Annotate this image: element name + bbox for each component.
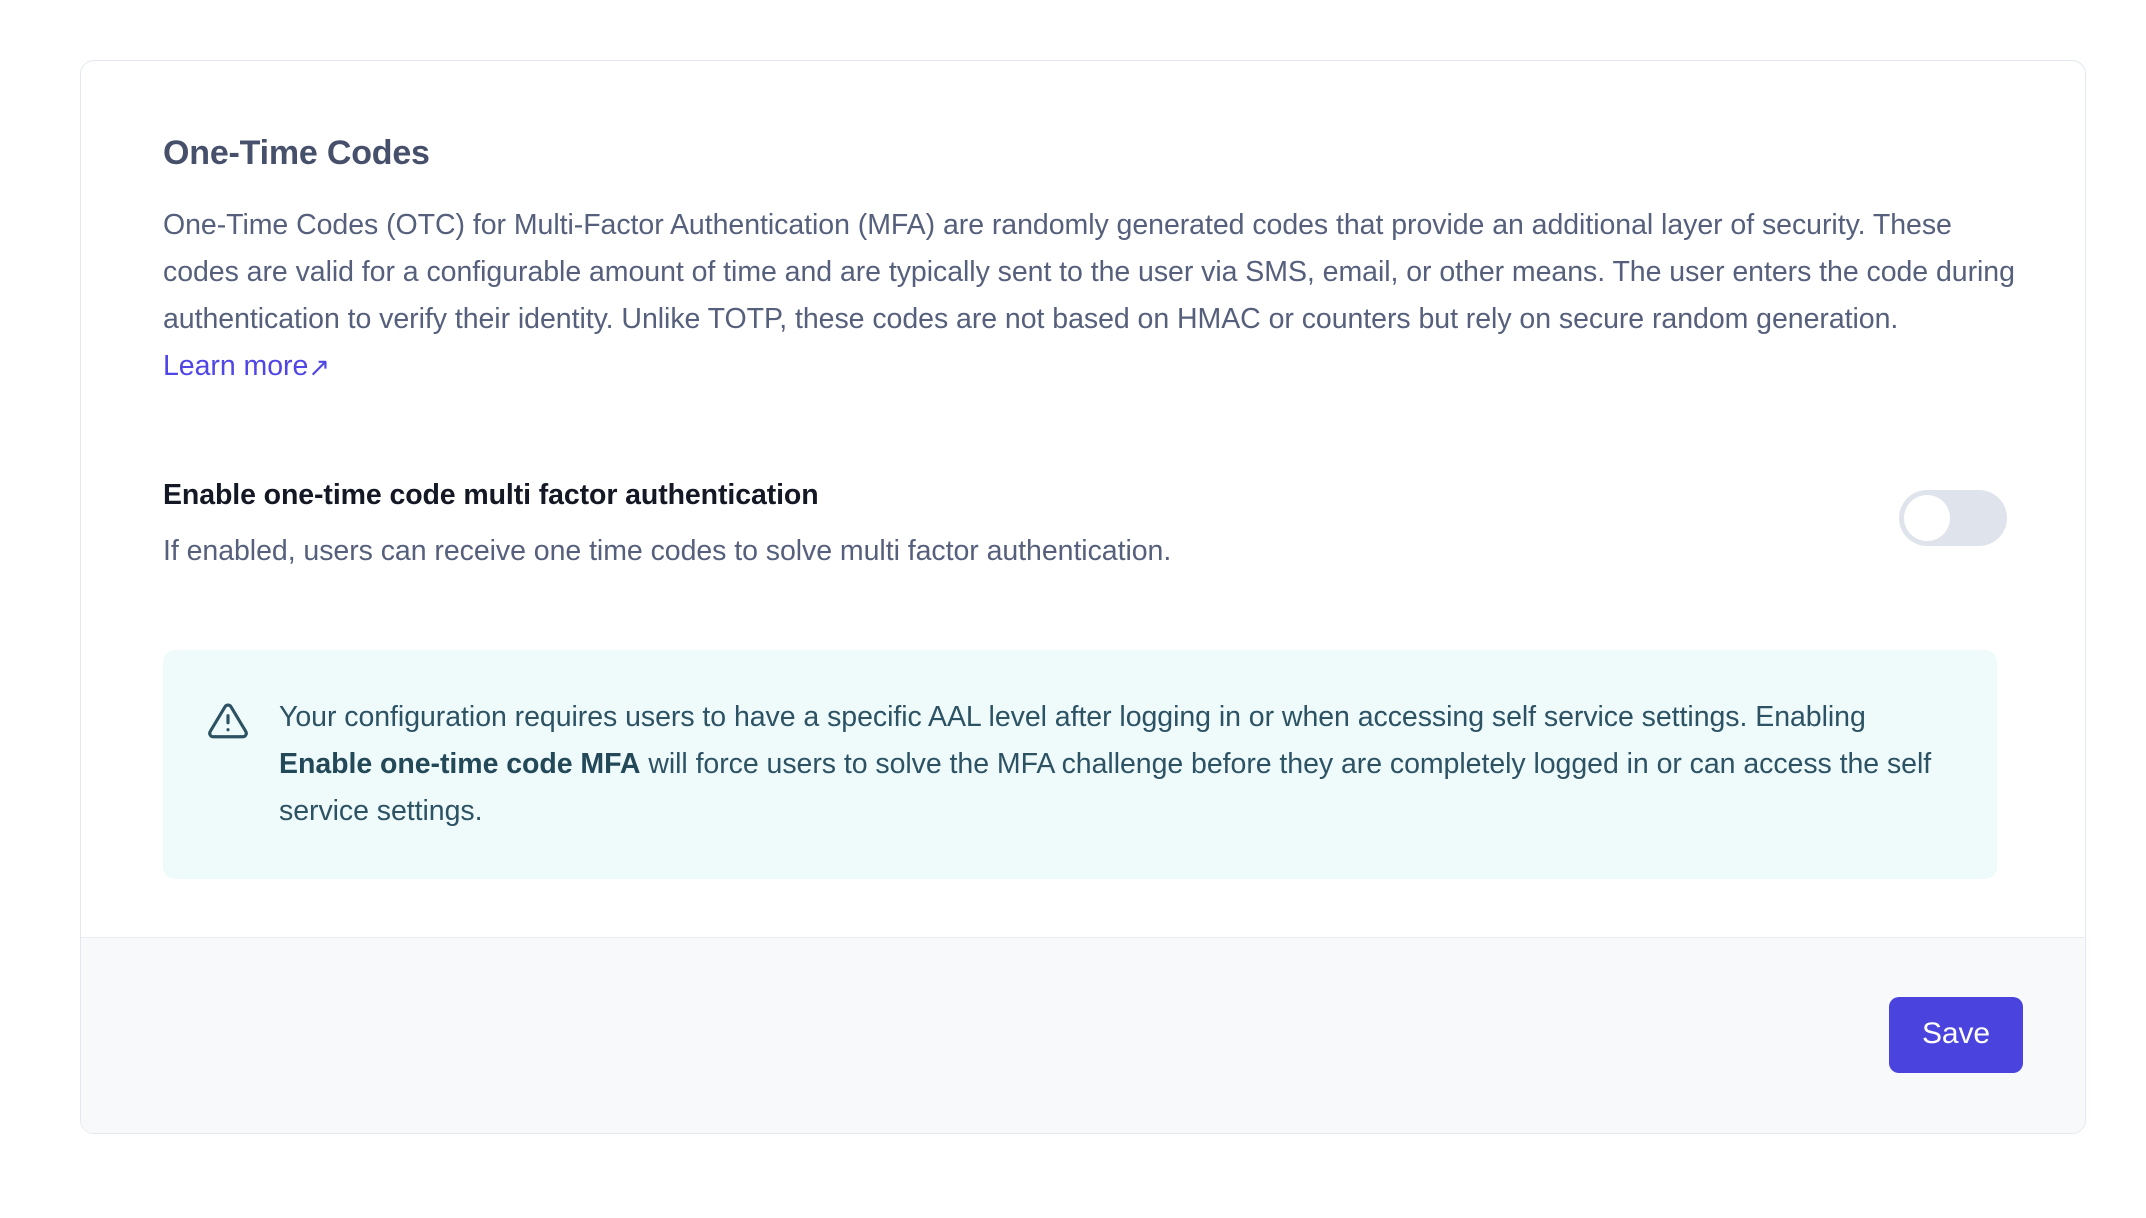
learn-more-label: Learn more bbox=[163, 350, 308, 382]
enable-otc-toggle[interactable] bbox=[1899, 490, 2007, 546]
warning-triangle-icon bbox=[207, 700, 249, 747]
page-root: One-Time Codes One-Time Codes (OTC) for … bbox=[0, 0, 2146, 1218]
external-link-arrow-icon: ↗ bbox=[308, 354, 330, 380]
callout-emphasis: Enable one-time code MFA bbox=[279, 748, 640, 780]
callout-text: Your configuration requires users to hav… bbox=[279, 694, 1951, 835]
setting-texts: Enable one-time code multi factor authen… bbox=[163, 476, 1859, 570]
card-description-text: One-Time Codes (OTC) for Multi-Factor Au… bbox=[163, 209, 2015, 335]
setting-description: If enabled, users can receive one time c… bbox=[163, 532, 1859, 570]
card-footer: Save bbox=[81, 937, 2085, 1133]
toggle-knob bbox=[1904, 495, 1950, 541]
aal-warning-callout: Your configuration requires users to hav… bbox=[163, 650, 1997, 879]
save-button[interactable]: Save bbox=[1889, 997, 2023, 1073]
card-body: One-Time Codes One-Time Codes (OTC) for … bbox=[81, 61, 2085, 937]
one-time-codes-settings-card: One-Time Codes One-Time Codes (OTC) for … bbox=[80, 60, 2086, 1134]
setting-label: Enable one-time code multi factor authen… bbox=[163, 476, 1859, 514]
page-title: One-Time Codes bbox=[163, 133, 2025, 174]
card-description: One-Time Codes (OTC) for Multi-Factor Au… bbox=[163, 202, 2025, 390]
callout-text-before: Your configuration requires users to hav… bbox=[279, 701, 1866, 733]
enable-otc-setting-row: Enable one-time code multi factor authen… bbox=[163, 476, 2025, 570]
learn-more-link[interactable]: Learn more↗ bbox=[163, 350, 330, 382]
